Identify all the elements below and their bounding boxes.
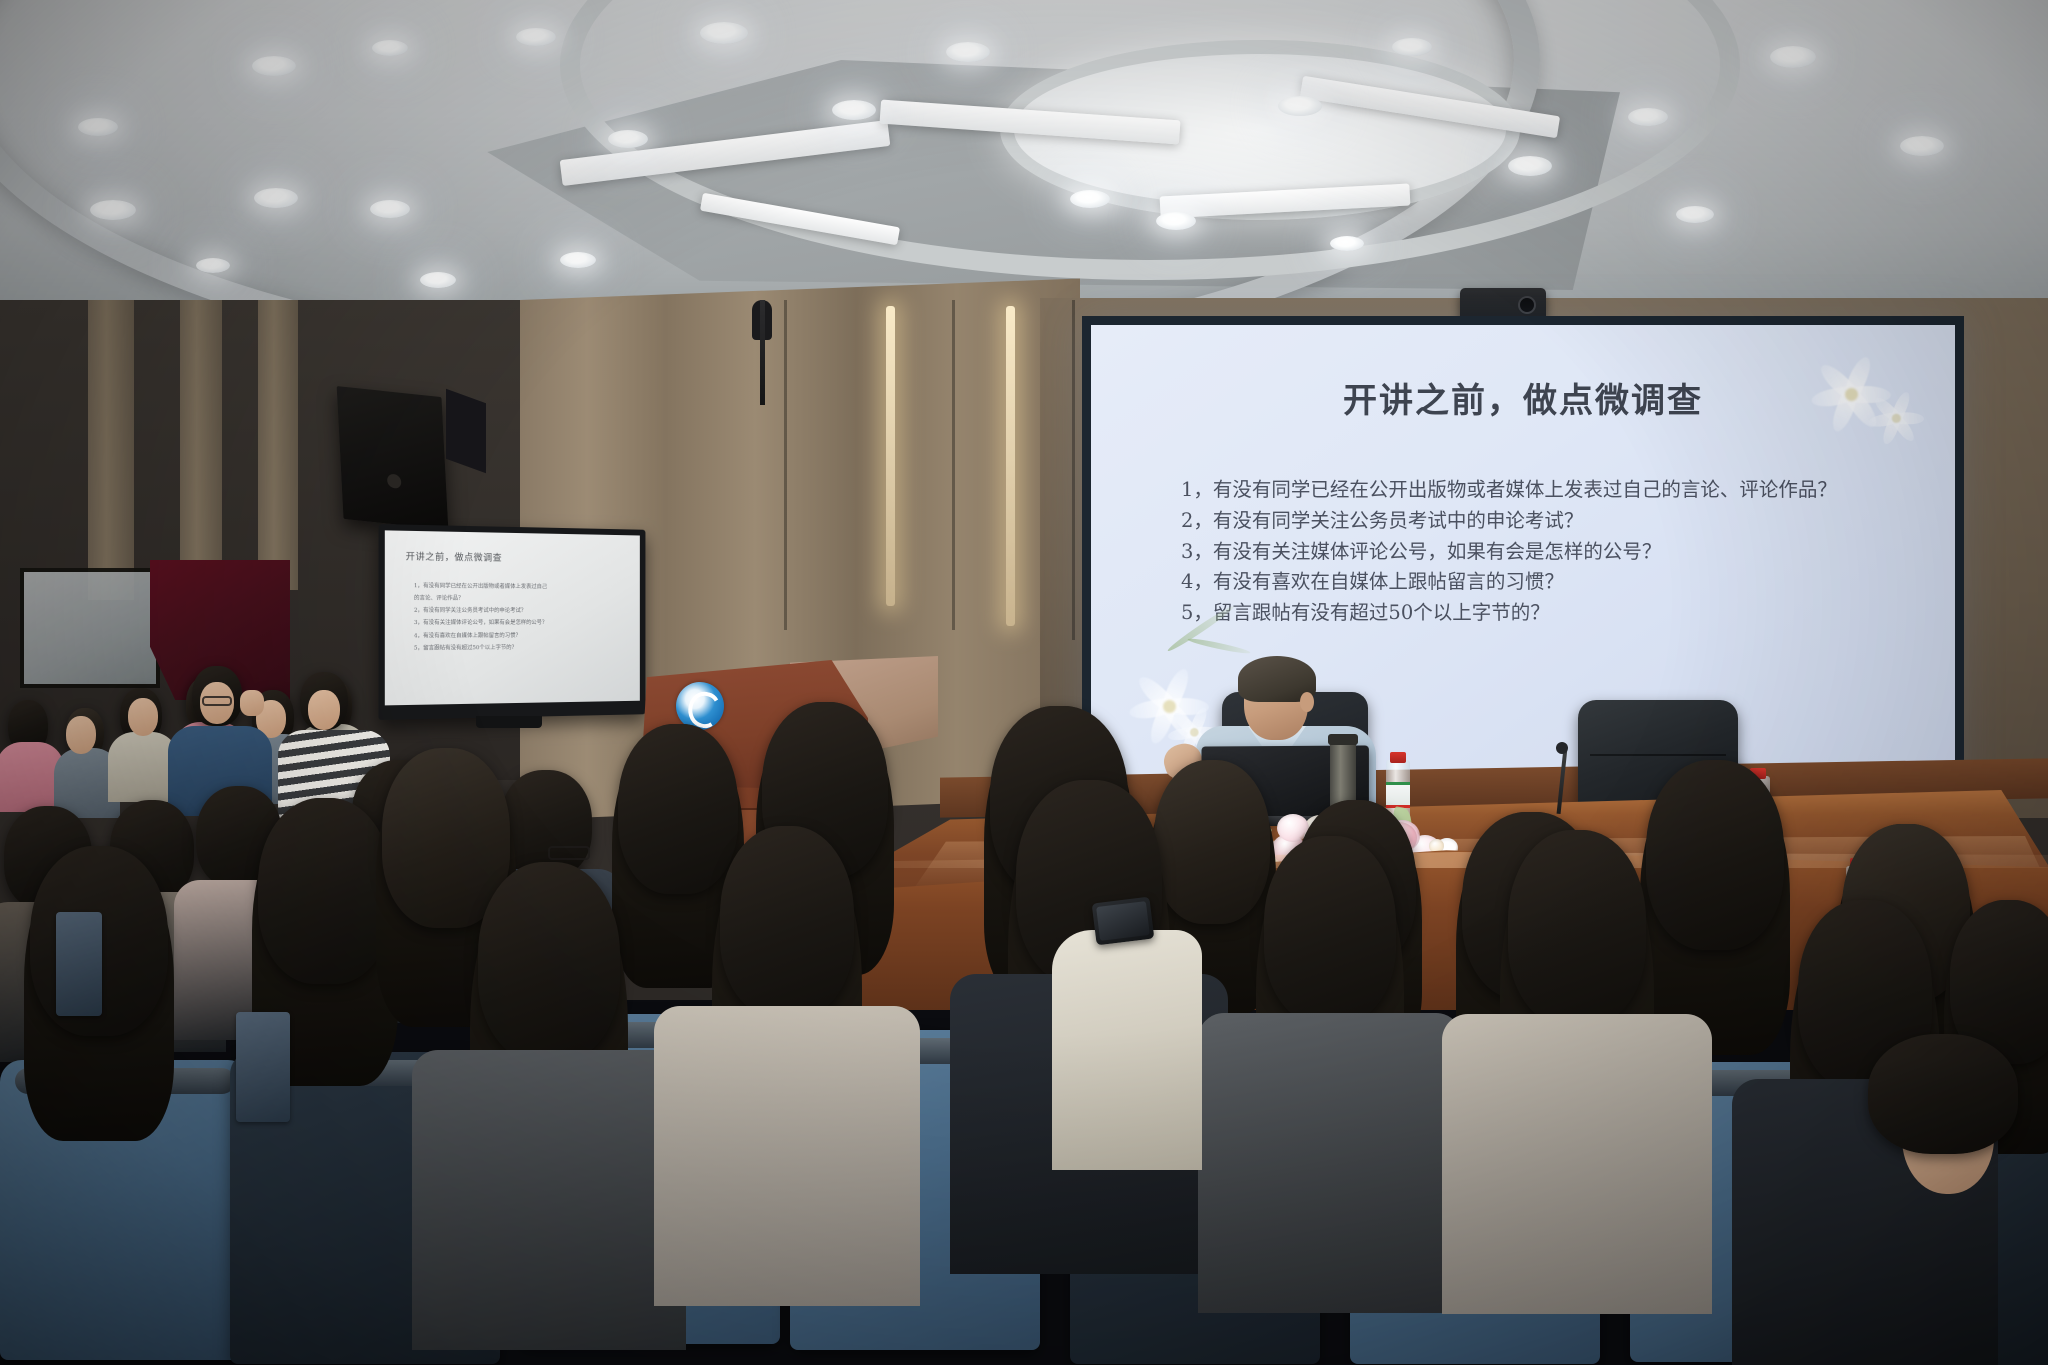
audience-head <box>1264 836 1396 1024</box>
ceiling-downlight <box>1628 108 1668 126</box>
hanging-microphone-stem <box>760 300 765 405</box>
speaker-ear <box>1300 692 1314 712</box>
speaker-mount-bracket <box>446 389 486 474</box>
glasses-icon <box>548 846 590 860</box>
raised-smartphone <box>1092 897 1155 946</box>
monitor-stand <box>476 716 542 728</box>
desk-microphone-head <box>1556 742 1568 754</box>
ceiling-downlight <box>946 42 990 62</box>
led-wall-strip <box>886 306 895 606</box>
wall-column <box>88 300 134 600</box>
wall-groove <box>784 300 787 630</box>
monitor-bullet: 5，留言跟帖有没有超过50个以上字节的？ <box>414 641 627 654</box>
confidence-monitor: 开讲之前，做点微调查 1，有没有同学已经在公开出版物或者媒体上发表过自己 的言论… <box>379 524 646 720</box>
slide-body: 1，有没有同学已经在公开出版物或者媒体上发表过自己的言论、评论作品？ 2，有没有… <box>1127 475 1915 629</box>
speaker-cone-icon <box>386 473 401 489</box>
audience-torso <box>654 1006 920 1306</box>
bottle-cap <box>1390 752 1406 763</box>
monitor-bullet: 3，有没有关注媒体评论公号，如果有会是怎样的公号？ <box>414 617 627 629</box>
audience-head <box>618 724 738 894</box>
monitor-slide-body: 1，有没有同学已经在公开出版物或者媒体上发表过自己 的言论、评论作品？ 2，有没… <box>414 580 627 655</box>
ceiling-downlight <box>1156 212 1196 230</box>
ceiling-downlight <box>420 272 456 288</box>
audience-face <box>128 698 158 736</box>
slide-bullet: 5，留言跟帖有没有超过50个以上字节的？ <box>1127 598 1915 629</box>
side-whiteboard <box>20 568 160 688</box>
ceiling-downlight <box>1278 96 1322 116</box>
monitor-bullet: 的言论、评论作品？ <box>414 592 627 605</box>
lily-stem <box>1187 636 1251 655</box>
ceiling-downlight <box>372 40 408 56</box>
wall-column <box>258 300 298 590</box>
ceiling-downlight <box>516 28 556 46</box>
audience-face <box>66 716 96 754</box>
confidence-monitor-screen: 开讲之前，做点微调查 1，有没有同学已经在公开出版物或者媒体上发表过自己 的言论… <box>385 530 640 705</box>
ceiling-downlight <box>1070 190 1110 208</box>
audience-hand <box>240 690 264 716</box>
ceiling-downlight <box>370 200 410 218</box>
hair-clip <box>56 912 102 1016</box>
slide-bullet: 1，有没有同学已经在公开出版物或者媒体上发表过自己的言论、评论作品？ <box>1127 475 1915 506</box>
wall-speaker <box>337 386 449 530</box>
slide-bullet: 2，有没有同学关注公务员考试中的申论考试？ <box>1127 506 1915 537</box>
audience-torso <box>1198 1013 1462 1313</box>
ceiling-downlight <box>608 130 648 148</box>
monitor-slide-title: 开讲之前，做点微调查 <box>406 549 502 564</box>
ceiling-downlight <box>90 200 136 220</box>
ceiling-downlight <box>700 22 748 44</box>
monitor-bullet: 4，有没有喜欢在自媒体上跟帖留言的习惯？ <box>414 629 627 642</box>
audience-head <box>1154 760 1270 924</box>
ceiling-downlight <box>560 252 596 268</box>
slide-bullet: 4，有没有喜欢在自媒体上跟帖留言的习惯？ <box>1127 567 1915 598</box>
ceiling-downlight <box>1392 38 1432 56</box>
audience-head <box>1646 760 1784 950</box>
audience-face <box>308 690 340 730</box>
wall-column <box>180 300 222 590</box>
slide-title: 开讲之前，做点微调查 <box>1091 373 1955 422</box>
audience-torso <box>1442 1014 1712 1314</box>
hair-clip <box>236 1012 290 1122</box>
audience-head <box>478 862 620 1062</box>
ceiling-downlight <box>252 56 296 76</box>
ceiling-downlight <box>254 188 298 208</box>
audience-arm <box>1052 930 1202 1170</box>
audience-head <box>720 826 854 1018</box>
audience-head <box>258 798 392 984</box>
ceiling-downlight <box>78 118 118 136</box>
thermos-cap <box>1328 734 1358 745</box>
slide-bullet: 3，有没有关注媒体评论公号，如果有会是怎样的公号？ <box>1127 537 1915 568</box>
projector-lens-icon <box>1518 296 1536 314</box>
monitor-bullet: 2，有没有同学关注公务员考试中的申论考试？ <box>414 605 627 618</box>
lecture-hall-scene: 开讲之前，做点微调查 1，有没有同学已经在公开出版物或者媒体上发表过自己的言论、… <box>0 0 2048 1365</box>
smartphone-screen <box>1096 901 1150 941</box>
audience-torso <box>412 1050 686 1350</box>
ceiling-downlight <box>1770 46 1816 68</box>
led-wall-strip <box>1006 306 1015 626</box>
glasses-icon <box>202 696 232 706</box>
ceiling-downlight <box>1676 206 1714 223</box>
audience-head <box>1868 1034 2018 1154</box>
wall-groove <box>1072 300 1075 640</box>
ceiling-downlight <box>1900 136 1944 156</box>
audience-head <box>1508 830 1646 1026</box>
ceiling-downlight <box>196 258 230 273</box>
ceiling-downlight <box>1508 156 1552 176</box>
ceiling-downlight <box>1330 236 1364 251</box>
wall-groove <box>952 300 955 630</box>
ceiling-downlight <box>832 100 876 120</box>
